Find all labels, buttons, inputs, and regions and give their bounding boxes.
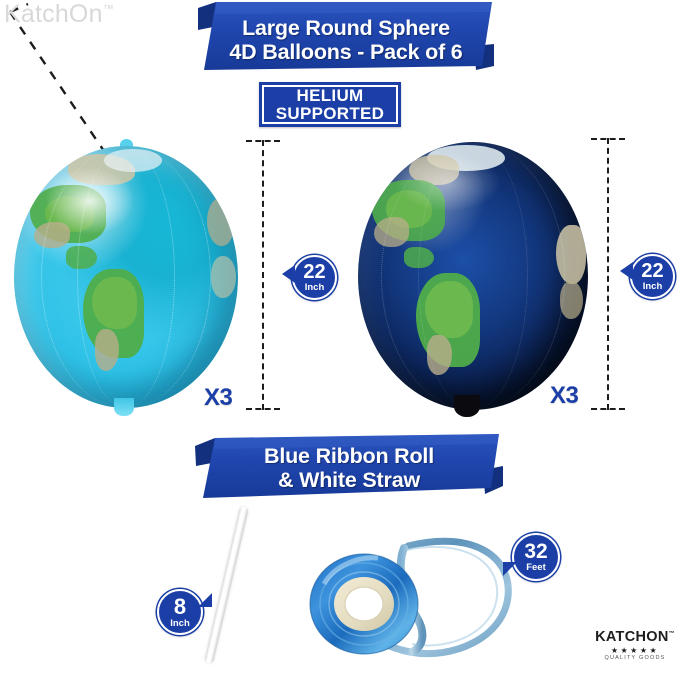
- size-badge-value: 8: [174, 596, 186, 618]
- badge-pointer-icon: [503, 562, 517, 576]
- brand-logo-tagline: QUALITY GOODS: [604, 656, 665, 662]
- balloon-nozzle-bottom-icon: [114, 398, 134, 416]
- size-badge-left-globe: 22 Inch: [292, 255, 337, 300]
- badge-pointer-icon: [198, 593, 212, 607]
- badge-pointer-icon: [282, 265, 295, 283]
- measurement-line-left-globe: [245, 130, 281, 420]
- measure-vertical-line-icon: [262, 140, 264, 410]
- size-badge-unit: Inch: [643, 282, 663, 292]
- watermark-text: KatchOn: [4, 0, 103, 28]
- brand-logo-name-wrap: KATCHON™: [595, 630, 675, 645]
- product-image-dark-blue-earth-balloon: X3: [358, 142, 588, 410]
- size-badge-unit: Inch: [170, 619, 190, 629]
- balloon-nozzle-bottom-dark-icon: [454, 395, 480, 417]
- bottom-title-banner: Blue Ribbon Roll & White Straw: [193, 432, 505, 500]
- quantity-label-left-globe: X3: [204, 384, 232, 412]
- measure-cap-bottom-icon: [591, 408, 625, 410]
- size-badge-right-globe: 22 Inch: [630, 254, 675, 299]
- brand-logo-name: KATCHON: [595, 629, 669, 645]
- brand-logo-tm: ™: [669, 631, 675, 637]
- bottom-banner-shape: [193, 432, 505, 500]
- watermark-tm: ™: [103, 4, 114, 16]
- measure-vertical-line-icon: [607, 138, 609, 410]
- size-badge-value: 32: [524, 541, 547, 562]
- katchon-brand-logo: KATCHON™ ★★★★★ QUALITY GOODS: [594, 630, 676, 674]
- measure-cap-bottom-icon: [246, 408, 280, 410]
- product-image-blue-ribbon-roll: [300, 520, 530, 665]
- quantity-label-right-globe: X3: [550, 382, 578, 410]
- top-title-banner: Large Round Sphere 4D Balloons - Pack of…: [196, 0, 496, 72]
- helium-badge-inner: HELIUM SUPPORTED: [262, 85, 398, 124]
- brand-logo-stars-icon: ★★★★★: [611, 647, 659, 655]
- size-badge-value: 22: [303, 262, 325, 282]
- size-badge-value: 22: [641, 261, 663, 281]
- size-badge-unit: Feet: [526, 563, 546, 573]
- helium-supported-badge: HELIUM SUPPORTED: [259, 82, 401, 127]
- helium-badge-line2: SUPPORTED: [276, 105, 385, 122]
- size-badge-straw: 8 Inch: [157, 589, 203, 635]
- globe-sphere-light: [14, 146, 238, 408]
- size-badge-unit: Inch: [305, 283, 325, 293]
- infographic-canvas: KatchOn™ Large Round Sphere 4D Balloons …: [0, 0, 679, 680]
- globe-sphere-dark: [358, 142, 588, 410]
- katchon-watermark: KatchOn™: [4, 2, 114, 27]
- badge-pointer-icon: [620, 262, 633, 280]
- product-image-white-straw: [204, 506, 249, 664]
- size-badge-ribbon-roll: 32 Feet: [512, 533, 560, 581]
- product-image-light-blue-globe-balloon: X3: [14, 146, 238, 408]
- helium-badge-line1: HELIUM: [297, 87, 364, 104]
- top-banner-shape: [196, 0, 496, 72]
